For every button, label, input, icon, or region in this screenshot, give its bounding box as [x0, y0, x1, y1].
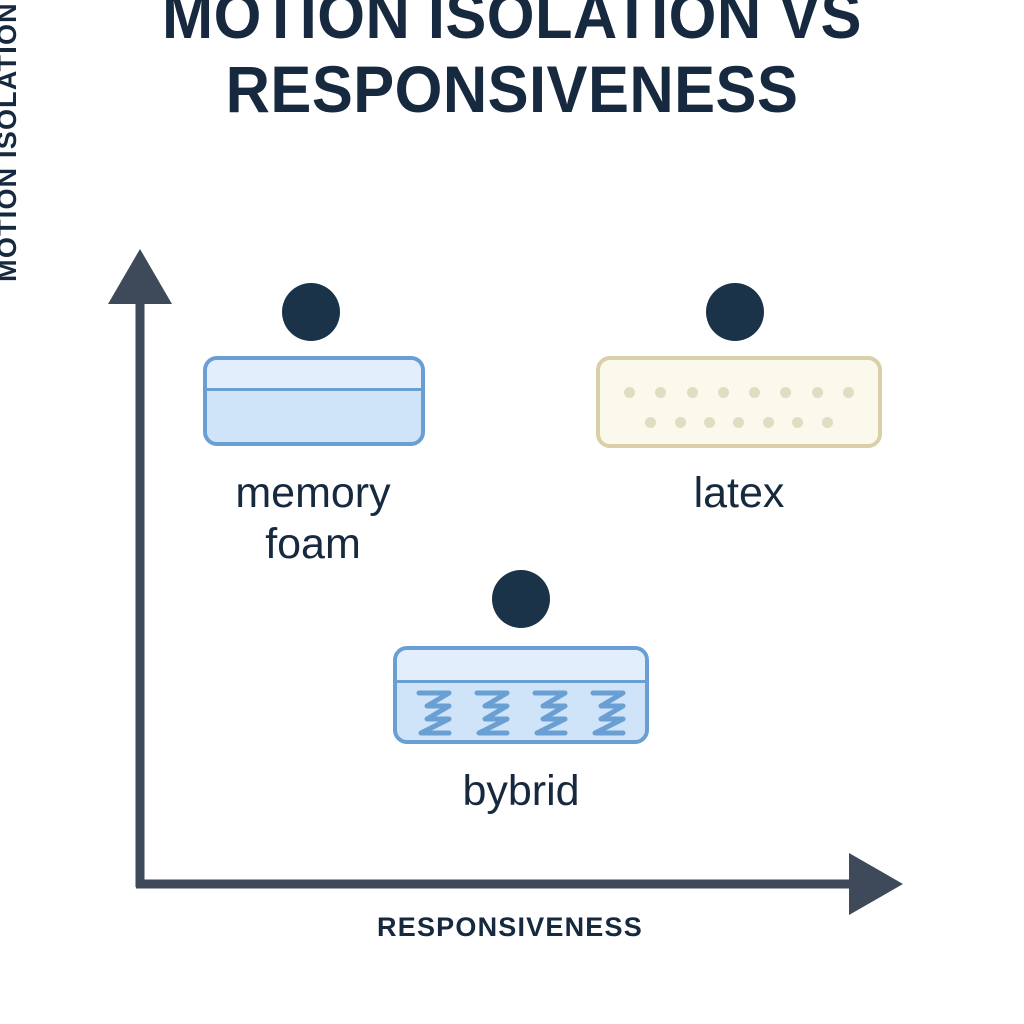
comfort-layer [207, 360, 421, 391]
label-line-2: foam [265, 520, 361, 568]
label-line-1: memory [235, 469, 390, 517]
latex-dot [675, 417, 686, 428]
data-point-latex[interactable]: latex [596, 283, 886, 533]
mattress-memory-foam-icon [203, 356, 425, 446]
label-latex: latex [614, 468, 864, 519]
y-axis-arrowhead [108, 249, 172, 304]
latex-dot [624, 387, 635, 398]
sleeper-head-icon [492, 570, 550, 628]
coil-row [397, 684, 645, 742]
latex-dot [749, 387, 760, 398]
latex-dot [812, 387, 823, 398]
latex-dot [718, 387, 729, 398]
coil-spring-icon [529, 687, 571, 739]
label-memory-foam: memory foam [190, 468, 436, 570]
label-line-1: latex [694, 469, 785, 517]
coil-spring-icon [587, 687, 629, 739]
mattress-hybrid-icon [393, 646, 649, 744]
latex-dot [733, 417, 744, 428]
data-point-memory-foam[interactable]: memory foam [196, 283, 430, 573]
x-axis-label: RESPONSIVENESS [140, 912, 880, 943]
y-axis-label: MOTION ISOLATION [0, 0, 23, 352]
coil-spring-icon [471, 687, 513, 739]
infographic-canvas: MOTION ISOLATION VS RESPONSIVENESS MOTIO… [0, 0, 1024, 1024]
latex-dot [704, 417, 715, 428]
data-point-hybrid[interactable]: bybrid [393, 570, 649, 830]
latex-dot [780, 387, 791, 398]
comfort-layer [397, 650, 645, 683]
latex-dot [687, 387, 698, 398]
latex-dot [655, 387, 666, 398]
label-hybrid: bybrid [383, 766, 659, 817]
sleeper-head-icon [282, 283, 340, 341]
coil-spring-icon [413, 687, 455, 739]
sleeper-head-icon [706, 283, 764, 341]
label-line-1: bybrid [462, 767, 579, 815]
x-axis-arrowhead [849, 853, 903, 915]
latex-dot [763, 417, 774, 428]
latex-dot-row-bottom [600, 416, 878, 428]
latex-dot [843, 387, 854, 398]
latex-dot [792, 417, 803, 428]
latex-dot-row-top [600, 386, 878, 398]
mattress-latex-icon [596, 356, 882, 448]
latex-dot [822, 417, 833, 428]
latex-dot [645, 417, 656, 428]
